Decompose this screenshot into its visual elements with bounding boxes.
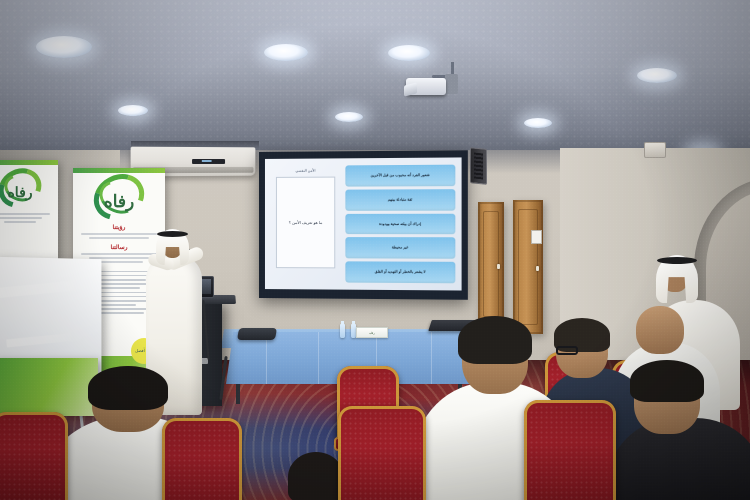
logo-text: رفاه (104, 192, 134, 212)
attendee-dark-shirt-right-hair (630, 360, 704, 402)
attendee-bald-white-head (636, 306, 684, 354)
banner-vision-heading: رؤيتنا (79, 224, 159, 231)
attendee-back-row-head (288, 452, 344, 500)
slide-question-box: ما هو تعريف الأمن ؟ (276, 177, 336, 269)
attendee-foreground-left-hair (88, 366, 168, 410)
projection-screen-surface: شعور الفرد أنه محبوب من قبل الآخرين ثقة … (265, 157, 462, 290)
slide-row: ثقة متبادلة بينهم (345, 189, 455, 210)
slide-content: شعور الفرد أنه محبوب من قبل الآخرين ثقة … (265, 157, 462, 290)
door-left[interactable] (478, 202, 504, 326)
ceiling-light-2 (264, 44, 308, 61)
slide-row: إدراك أن بيئته صحية وودودة (345, 213, 455, 234)
slide-side-title: الأمن النفسي (296, 169, 316, 173)
ceiling-light-1 (36, 36, 92, 58)
banner-secondary: رفاه (0, 160, 58, 260)
chair[interactable] (162, 418, 242, 500)
projector-icon (404, 62, 460, 106)
attendee-standing-ghutra-igal (657, 257, 697, 264)
door-right[interactable] (513, 200, 543, 334)
name-card: رفاه (356, 327, 388, 338)
logo-text: رفاه (7, 184, 32, 201)
slide-question-column: الأمن النفسي ما هو تعريف الأمن ؟ (271, 165, 340, 282)
ceiling-light-6 (335, 112, 363, 122)
wall-box-icon (644, 142, 666, 158)
projection-screen: شعور الفرد أنه محبوب من قبل الآخرين ثقة … (259, 150, 468, 300)
slide-bullet-column: شعور الفرد أنه محبوب من قبل الآخرين ثقة … (345, 165, 455, 284)
chair[interactable] (524, 400, 616, 500)
bag-on-table (237, 328, 277, 340)
ceiling-light-7 (524, 118, 552, 128)
ceiling-light-4 (637, 68, 677, 83)
chair[interactable] (338, 406, 426, 500)
ceiling (0, 0, 750, 165)
ceiling-shading (0, 0, 750, 165)
banner-mission-heading: رسالتنا (79, 244, 159, 251)
ceiling-light-3 (388, 45, 430, 61)
slide-row: لا يشعر بالخطر أو التهديد أو القلق (345, 262, 455, 284)
slide-row: غير محيطة (345, 238, 455, 259)
rafah-logo-icon: رفاه (93, 175, 145, 219)
slide-row: شعور الفرد أنه محبوب من قبل الآخرين (345, 165, 455, 187)
water-bottle (340, 324, 345, 338)
glasses-icon (556, 346, 578, 355)
green-poster (0, 358, 98, 416)
door-sign (531, 230, 542, 244)
attendee-white-shirt-hair (458, 316, 532, 364)
speaker-igal (157, 231, 188, 237)
rafah-logo-icon: رفاه (0, 169, 42, 207)
seminar-room-photo: شعور الفرد أنه محبوب من قبل الآخرين ثقة … (0, 0, 750, 500)
wall-speaker-icon (470, 147, 487, 185)
ceiling-light-5 (118, 105, 148, 116)
chair[interactable] (0, 412, 68, 500)
